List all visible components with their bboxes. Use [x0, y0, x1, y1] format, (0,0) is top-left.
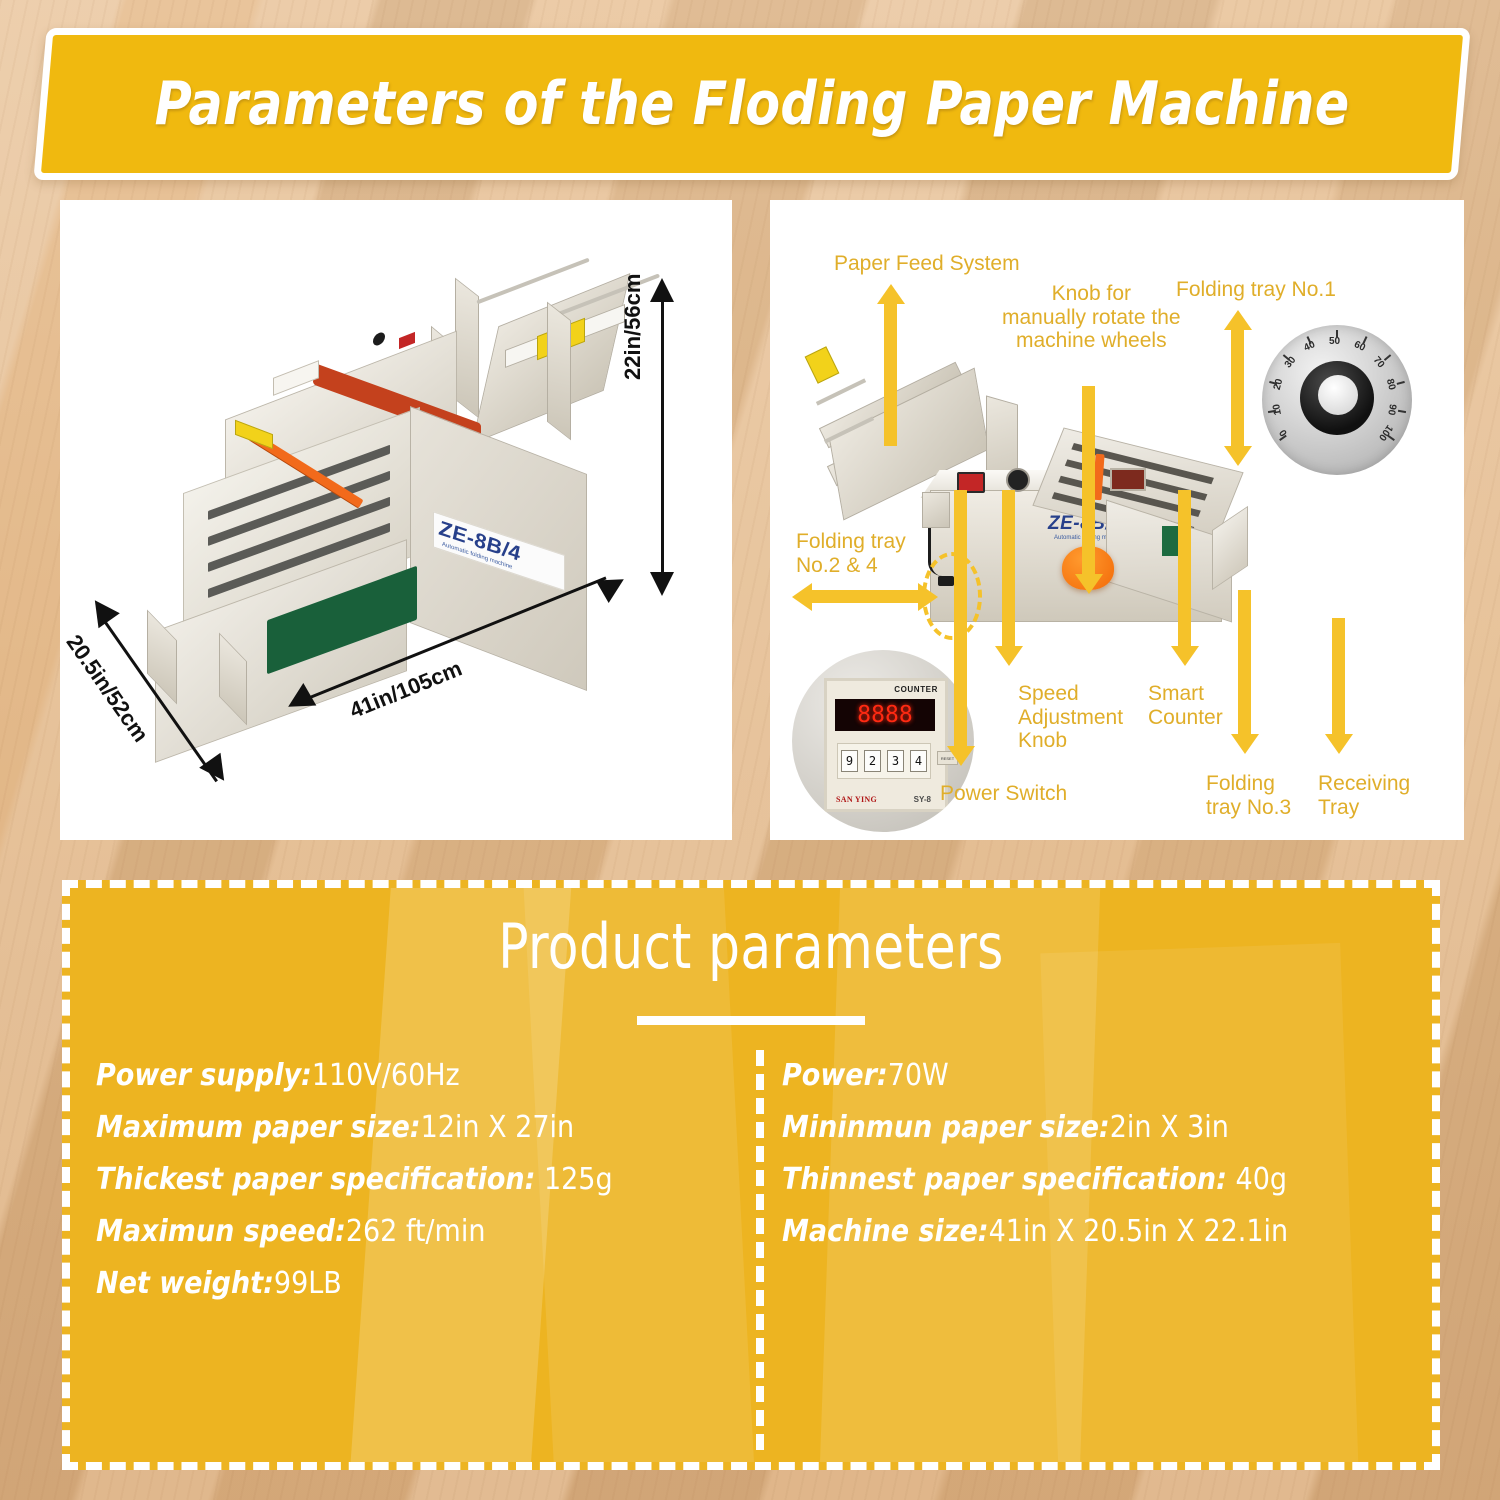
arrow-tip-up	[877, 284, 905, 304]
params-column-right: Power:70W Mininmun paper size:2in X 3in …	[782, 1058, 1422, 1266]
params-heading: Product parameters	[138, 910, 1364, 983]
warning-label	[805, 346, 840, 383]
callout-folding-tray-3: Folding tray No.3	[1206, 772, 1291, 819]
counter-display: 8888	[835, 699, 935, 731]
speed-dial-inset: 0102030405060708090100	[1262, 325, 1412, 475]
tray-rod-a	[816, 378, 866, 405]
product-parameters-panel: Product parameters Power supply:110V/60H…	[62, 880, 1440, 1470]
callout-manual-rotate-knob: Knob for manually rotate the machine whe…	[1002, 282, 1181, 353]
dim-height-label: 22in/56cm	[620, 274, 646, 380]
arrow-tip-down	[1224, 446, 1252, 466]
arrow-manual-rotate-knob	[1082, 386, 1095, 576]
arrow-speed-adjustment-knob	[1002, 490, 1015, 648]
params-heading-underline	[637, 1016, 865, 1025]
arrow-tip-down	[947, 746, 975, 766]
dim-depth-arrow-a	[84, 593, 120, 628]
arrow-tip-down	[1171, 646, 1199, 666]
dim-height-line	[661, 298, 664, 578]
dial-tick	[1398, 410, 1406, 413]
dim-height-arrow-up	[650, 278, 674, 302]
spec-row: Machine size:41in X 20.5in X 22.1in	[782, 1214, 1422, 1249]
counter-model: SY-8	[914, 795, 931, 804]
product-photo-right-annotated: ZE-8B/4 Automatic folding machine 010203…	[770, 200, 1464, 840]
callout-power-switch: Power Switch	[940, 782, 1067, 806]
highlight-circle	[922, 552, 982, 640]
title-banner: Parameters of the Floding Paper Machine	[40, 28, 1464, 180]
folding-tray-2-4-port	[922, 492, 950, 528]
thumbwheel-digit[interactable]: 4	[910, 750, 927, 772]
arrow-tip-down	[995, 646, 1023, 666]
dial-tick	[1384, 354, 1391, 361]
callout-paper-feed-system: Paper Feed System	[834, 252, 1020, 276]
folding-machine-photo: ZE-8B/4 Automatic folding machine	[155, 275, 675, 705]
spec-row: Maximum paper size:12in X 27in	[96, 1110, 736, 1145]
dial-tick	[1336, 330, 1338, 338]
title-banner-text: Parameters of the Floding Paper Machine	[83, 28, 1422, 180]
counter-digits: 8888	[857, 704, 912, 727]
dim-height-arrow-down	[650, 572, 674, 596]
callout-folding-tray-1: Folding tray No.1	[1176, 278, 1336, 302]
spec-row: Maximun speed:262 ft/min	[96, 1214, 736, 1249]
dial-knob[interactable]	[1300, 361, 1374, 435]
dial-tick	[1397, 381, 1405, 385]
smart-counter-display[interactable]	[1110, 468, 1146, 491]
knob-small	[373, 331, 385, 348]
callout-receiving-tray: Receiving Tray	[1318, 772, 1410, 819]
machine-side-panel: ZE-8B/4 Automatic folding machine	[410, 406, 587, 691]
speed-adjustment-knob[interactable]	[1006, 468, 1030, 492]
arrow-folding-tray-2-4	[812, 590, 922, 603]
arrow-tip-left	[792, 583, 812, 611]
params-column-left: Power supply:110V/60Hz Maximum paper siz…	[96, 1058, 736, 1318]
folding-machine-photo-annotated: ZE-8B/4 Automatic folding machine	[810, 350, 1280, 680]
counter-thumbwheels[interactable]: 9 2 3 4	[837, 743, 931, 779]
spec-row: Thinnest paper specification: 40g	[782, 1162, 1422, 1197]
arrow-tip-up	[1224, 310, 1252, 330]
arrow-tip-down	[1231, 734, 1259, 754]
arrow-paper-feed-system	[884, 304, 897, 446]
thumbwheel-digit[interactable]: 3	[887, 750, 904, 772]
spec-row: Thickest paper specification: 125g	[96, 1162, 736, 1197]
dim-depth-arrow-b	[199, 753, 235, 788]
arrow-smart-counter	[1178, 490, 1191, 648]
product-photo-left: ZE-8B/4 Automatic folding machine 22in/5…	[60, 200, 732, 840]
dial-number: 50	[1329, 336, 1340, 347]
dial-tick	[1387, 435, 1395, 441]
dial-number: 70	[1371, 354, 1387, 370]
thumbwheel-digit[interactable]: 2	[864, 750, 881, 772]
params-column-divider	[756, 1050, 764, 1450]
arrow-receiving-tray	[1332, 618, 1345, 736]
spec-row: Power:70W	[782, 1058, 1422, 1093]
spec-row: Mininmun paper size:2in X 3in	[782, 1110, 1422, 1145]
spec-row: Power supply:110V/60Hz	[96, 1058, 736, 1093]
counter-brand: SAN YING	[836, 795, 877, 804]
arrow-tip-down	[1075, 574, 1103, 594]
counter-title: COUNTER	[894, 685, 938, 694]
folding-tray-wing-a	[455, 278, 479, 419]
arrow-folding-tray-1	[1231, 330, 1244, 448]
folding-tray-wing-c	[547, 302, 571, 441]
dial-number: 80	[1384, 378, 1398, 392]
callout-folding-tray-2-4: Folding tray No.2 & 4	[796, 530, 906, 577]
arrow-tip-down	[1325, 734, 1353, 754]
spec-row: Net weight:99LB	[96, 1266, 736, 1301]
dial-number: 90	[1385, 403, 1398, 416]
callout-smart-counter: Smart Counter	[1148, 682, 1223, 729]
arrow-folding-tray-3	[1238, 590, 1251, 736]
dim-depth-label: 20.5in/52cm	[61, 630, 154, 747]
dial-number: 20	[1272, 378, 1286, 392]
thumbwheel-digit[interactable]: 9	[841, 750, 858, 772]
callout-speed-adjustment-knob: Speed Adjustment Knob	[1018, 682, 1123, 753]
arrow-power-switch	[954, 490, 967, 748]
